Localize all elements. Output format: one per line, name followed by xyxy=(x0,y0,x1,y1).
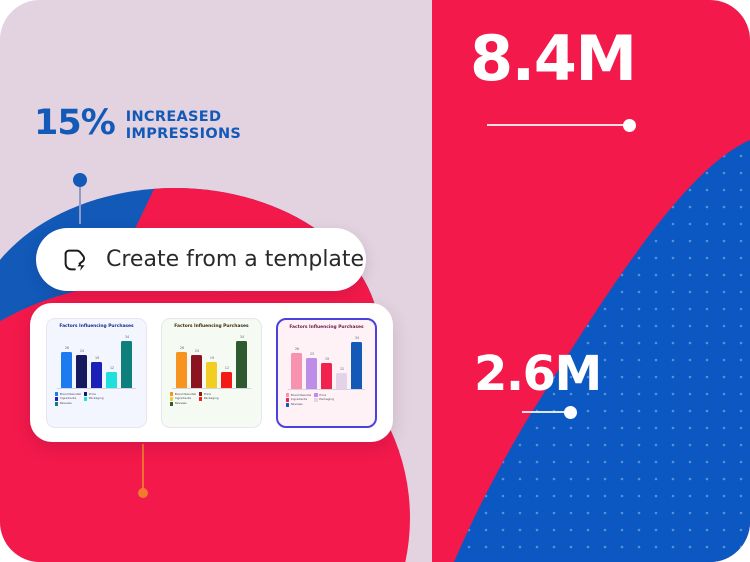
bar-value-label: 26 xyxy=(65,346,69,350)
legend-label: Price xyxy=(204,393,211,396)
legend-swatch xyxy=(286,398,289,401)
bar-group: 24 xyxy=(76,332,87,388)
legend-item: Ingredients xyxy=(170,397,196,400)
bar xyxy=(351,342,362,389)
bar-value-label: 34 xyxy=(125,335,129,339)
legend-label: Brand Reputation xyxy=(60,393,81,396)
legend-label: Brand Reputation xyxy=(175,393,196,396)
legend-swatch xyxy=(314,393,317,396)
legend-swatch xyxy=(170,397,173,400)
legend-swatch xyxy=(314,398,317,401)
legend-label: Brand Reputation xyxy=(291,394,312,397)
legend-swatch xyxy=(55,402,58,405)
pin-dot xyxy=(73,173,87,187)
legend-label: Ingredients xyxy=(175,397,191,400)
legend-swatch xyxy=(286,403,289,406)
impressions-percent: 15% xyxy=(34,106,115,141)
bar-group: 19 xyxy=(206,332,217,388)
legend-item: Packaging xyxy=(199,397,225,400)
legend-label: Ingredients xyxy=(291,398,307,401)
bar xyxy=(306,358,317,389)
legend-swatch xyxy=(55,392,58,395)
legend-label: Packaging xyxy=(89,397,104,400)
legend-label: Packaging xyxy=(204,397,219,400)
legend-swatch xyxy=(170,402,173,405)
bar-chart: 2624191234 xyxy=(52,332,141,388)
bar-group: 34 xyxy=(351,333,362,389)
bar xyxy=(176,352,187,388)
legend-item: Ingredients xyxy=(55,397,81,400)
bar-group: 19 xyxy=(321,333,332,389)
bar-value-label: 12 xyxy=(340,367,344,371)
connector-line-dot-top xyxy=(487,119,636,131)
bar xyxy=(336,373,347,389)
chart-legend: Brand ReputationPriceIngredientsPackagin… xyxy=(283,389,370,406)
legend-item: Reviews xyxy=(55,402,81,405)
bar xyxy=(236,341,247,388)
connector-line xyxy=(487,124,624,126)
bar-value-label: 34 xyxy=(240,335,244,339)
legend-swatch xyxy=(84,392,87,395)
impressions-label: INCREASED IMPRESSIONS xyxy=(126,106,241,143)
bar-value-label: 19 xyxy=(325,357,329,361)
legend-item: Price xyxy=(314,393,339,396)
bar-value-label: 19 xyxy=(95,356,99,360)
connector-knob xyxy=(623,119,636,132)
legend-item: Packaging xyxy=(314,398,339,401)
bar-value-label: 23 xyxy=(310,352,314,356)
legend-swatch xyxy=(199,392,202,395)
bar-group: 34 xyxy=(121,332,132,388)
bar-group: 26 xyxy=(291,333,302,389)
connector-knob xyxy=(564,406,577,419)
template-card-title: Factors Influencing Purchases xyxy=(52,325,141,330)
template-card[interactable]: Factors Influencing Purchases2623191234B… xyxy=(276,318,377,428)
bar-value-label: 24 xyxy=(195,349,199,353)
bar-value-label: 12 xyxy=(225,366,229,370)
connector-line-dot-bottom xyxy=(522,406,577,418)
legend-label: Packaging xyxy=(319,398,334,401)
right-panel: 8.4M 2.6M xyxy=(432,0,750,562)
x-axis xyxy=(57,388,136,389)
bar-value-label: 34 xyxy=(355,336,359,340)
template-card[interactable]: Factors Influencing Purchases2624191234B… xyxy=(46,318,147,428)
metric-top-value: 8.4M xyxy=(470,30,636,89)
template-gallery: Factors Influencing Purchases2624191234B… xyxy=(30,303,393,442)
legend-label: Reviews xyxy=(175,402,187,405)
bar-value-label: 19 xyxy=(210,356,214,360)
bar-group: 34 xyxy=(236,332,247,388)
bar-group: 19 xyxy=(91,332,102,388)
bar-value-label: 24 xyxy=(80,349,84,353)
pin-stem xyxy=(142,444,144,492)
legend-label: Ingredients xyxy=(60,397,76,400)
template-card[interactable]: Factors Influencing Purchases2624191234B… xyxy=(161,318,262,428)
legend-swatch xyxy=(286,393,289,396)
legend-item: Reviews xyxy=(170,402,196,405)
bar xyxy=(291,353,302,389)
bar xyxy=(191,355,202,388)
impressions-callout: 15% INCREASED IMPRESSIONS xyxy=(34,106,241,143)
legend-item: Brand Reputation xyxy=(286,393,311,396)
chart-legend: Brand ReputationPriceIngredientsPackagin… xyxy=(52,388,141,405)
legend-item: Ingredients xyxy=(286,398,311,401)
template-card-title: Factors Influencing Purchases xyxy=(283,326,370,331)
bar xyxy=(91,362,102,388)
legend-swatch xyxy=(170,392,173,395)
x-axis xyxy=(288,389,365,390)
legend-item: Price xyxy=(199,392,225,395)
bar-group: 26 xyxy=(176,332,187,388)
legend-label: Price xyxy=(319,394,326,397)
bar-group: 12 xyxy=(221,332,232,388)
pin-dot xyxy=(138,488,148,498)
legend-swatch xyxy=(55,397,58,400)
bar-value-label: 26 xyxy=(295,347,299,351)
bar-chart: 2623191234 xyxy=(283,333,370,389)
legend-item: Brand Reputation xyxy=(170,392,196,395)
bar xyxy=(76,355,87,388)
bar-value-label: 26 xyxy=(180,346,184,350)
bar-group: 26 xyxy=(61,332,72,388)
legend-item: Reviews xyxy=(286,403,311,406)
create-from-template-label: Create from a template xyxy=(106,247,364,272)
promo-graphic-frame: 15% INCREASED IMPRESSIONS Create from a … xyxy=(0,0,750,562)
bar xyxy=(61,352,72,388)
legend-swatch xyxy=(84,397,87,400)
legend-item: Brand Reputation xyxy=(55,392,81,395)
bar xyxy=(206,362,217,388)
template-lightning-icon xyxy=(60,245,90,275)
metric-top: 8.4M xyxy=(470,30,636,89)
impressions-label-line2: IMPRESSIONS xyxy=(126,126,241,143)
bar xyxy=(221,372,232,388)
bar-chart: 2624191234 xyxy=(167,332,256,388)
left-panel: 15% INCREASED IMPRESSIONS Create from a … xyxy=(0,0,428,562)
bar-group: 12 xyxy=(336,333,347,389)
connector-line xyxy=(522,411,565,413)
bar xyxy=(121,341,132,388)
bar-group: 23 xyxy=(306,333,317,389)
template-card-title: Factors Influencing Purchases xyxy=(167,325,256,330)
bar xyxy=(321,363,332,389)
x-axis xyxy=(172,388,251,389)
impressions-label-line1: INCREASED xyxy=(126,109,241,126)
metric-bottom-value: 2.6M xyxy=(474,352,601,398)
legend-label: Reviews xyxy=(291,403,303,406)
legend-item: Price xyxy=(84,392,110,395)
bar-group: 12 xyxy=(106,332,117,388)
legend-label: Reviews xyxy=(60,402,72,405)
bar-value-label: 12 xyxy=(110,366,114,370)
legend-label: Price xyxy=(89,393,96,396)
chart-legend: Brand ReputationPriceIngredientsPackagin… xyxy=(167,388,256,405)
metric-bottom: 2.6M xyxy=(474,352,601,398)
create-from-template-button[interactable]: Create from a template xyxy=(36,228,366,291)
legend-swatch xyxy=(199,397,202,400)
legend-item: Packaging xyxy=(84,397,110,400)
bar-group: 24 xyxy=(191,332,202,388)
bar xyxy=(106,372,117,388)
